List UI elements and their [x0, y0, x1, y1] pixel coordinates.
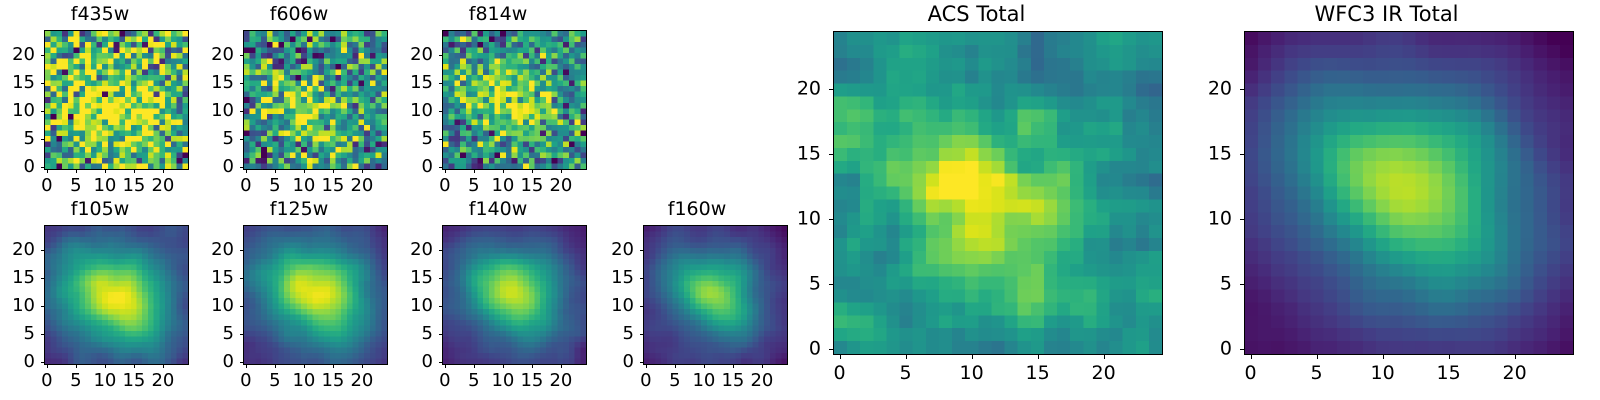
panel-title: f814w [398, 5, 598, 24]
panel-title: f105w [0, 200, 200, 219]
x-axis-tick-label: 5 [269, 177, 280, 195]
x-axis-tick-label: 0 [41, 177, 52, 195]
x-axis-tick [1449, 355, 1450, 359]
x-axis-tick-label: 15 [321, 372, 344, 390]
x-axis-tick [1104, 355, 1105, 359]
y-axis-tick-label: 15 [787, 145, 821, 164]
y-axis-tick-label: 5 [399, 325, 433, 343]
x-axis-tick [445, 170, 446, 173]
x-axis-tick-label: 20 [549, 177, 572, 195]
x-axis-tick [1038, 355, 1039, 359]
heatmap-f606w[interactable] [243, 30, 388, 170]
panel-wfc3-ir-total: WFC3 IR Total 0510152005101520 [1200, 0, 1600, 400]
y-axis-tick-label: 20 [200, 241, 234, 259]
x-axis-tick-label: 15 [520, 177, 543, 195]
x-axis-tick-label: 0 [240, 372, 251, 390]
panel-acs-total: ACS Total 0510152005101520 [790, 0, 1170, 400]
y-axis-tick-label: 0 [787, 339, 821, 358]
y-axis-tick [41, 139, 44, 140]
x-axis-tick-label: 5 [468, 372, 479, 390]
x-axis-tick [105, 170, 106, 173]
x-axis-tick [362, 365, 363, 368]
x-axis-tick [1251, 355, 1252, 359]
heatmap-f105w[interactable] [44, 225, 189, 365]
heatmap-f140w[interactable] [442, 225, 587, 365]
x-axis-tick [733, 365, 734, 368]
y-axis-tick-label: 10 [399, 297, 433, 315]
y-axis-tick [1240, 89, 1244, 90]
x-axis-tick-label: 0 [439, 372, 450, 390]
y-axis-tick [640, 278, 643, 279]
panel-title: WFC3 IR Total [1200, 4, 1573, 25]
x-axis-tick-label: 0 [41, 372, 52, 390]
y-axis-tick-label: 15 [600, 269, 634, 287]
x-axis-tick [304, 365, 305, 368]
x-axis-tick-label: 10 [292, 372, 315, 390]
y-axis-tick [240, 278, 243, 279]
x-axis-tick [972, 355, 973, 359]
panel-title: ACS Total [790, 4, 1163, 25]
y-axis-tick [439, 278, 442, 279]
y-axis-tick [240, 55, 243, 56]
y-axis-tick-label: 0 [1, 158, 35, 176]
y-axis-tick-label: 10 [399, 102, 433, 120]
heatmap-f814w[interactable] [442, 30, 587, 170]
y-axis-tick-label: 0 [200, 158, 234, 176]
y-axis-tick [1240, 219, 1244, 220]
panel-f105w: f105w 0510152005101520 [0, 195, 200, 400]
x-axis-tick [704, 365, 705, 368]
panel-f125w: f125w 0510152005101520 [199, 195, 399, 400]
y-axis-tick-label: 15 [1, 74, 35, 92]
y-axis-tick-label: 10 [200, 297, 234, 315]
y-axis-tick [829, 154, 833, 155]
y-axis-tick-label: 20 [1, 46, 35, 64]
figure-canvas: f435w 0510152005101520 f606w 05101520051… [0, 0, 1600, 400]
x-axis-tick-label: 10 [491, 372, 514, 390]
x-axis-tick [163, 365, 164, 368]
panel-title: f435w [0, 5, 200, 24]
x-axis-tick-label: 0 [640, 372, 651, 390]
x-axis-tick-label: 20 [549, 372, 572, 390]
y-axis-tick-label: 15 [1, 269, 35, 287]
y-axis-tick [41, 55, 44, 56]
panel-f814w: f814w 0510152005101520 [398, 0, 598, 195]
x-axis-tick [134, 170, 135, 173]
x-axis-tick-label: 5 [900, 364, 912, 383]
x-axis-tick [304, 170, 305, 173]
x-axis-tick-label: 10 [93, 372, 116, 390]
y-axis-tick-label: 0 [399, 158, 433, 176]
panel-title: f140w [398, 200, 598, 219]
x-axis-tick-label: 0 [834, 364, 846, 383]
y-axis-tick-label: 5 [1, 325, 35, 343]
panel-f435w: f435w 0510152005101520 [0, 0, 200, 195]
y-axis-tick-label: 10 [787, 209, 821, 228]
heatmap-wfc3-ir-total[interactable] [1244, 31, 1574, 355]
y-axis-tick-label: 15 [1198, 145, 1232, 164]
x-axis-tick [474, 365, 475, 368]
y-axis-tick-label: 20 [1198, 80, 1232, 99]
x-axis-tick [275, 365, 276, 368]
y-axis-tick-label: 10 [600, 297, 634, 315]
x-axis-tick [675, 365, 676, 368]
y-axis-tick [439, 111, 442, 112]
x-axis-tick-label: 10 [491, 177, 514, 195]
y-axis-tick-label: 10 [1198, 209, 1232, 228]
heatmap-f125w[interactable] [243, 225, 388, 365]
y-axis-tick [240, 83, 243, 84]
y-axis-tick-label: 5 [1198, 274, 1232, 293]
y-axis-tick-label: 10 [200, 102, 234, 120]
x-axis-tick-label: 15 [721, 372, 744, 390]
x-axis-tick [246, 170, 247, 173]
x-axis-tick [105, 365, 106, 368]
panel-f160w: f160w 0510152005101520 [597, 195, 797, 400]
x-axis-tick [906, 355, 907, 359]
y-axis-tick [1240, 154, 1244, 155]
y-axis-tick [640, 334, 643, 335]
y-axis-tick [439, 139, 442, 140]
x-axis-tick [1317, 355, 1318, 359]
heatmap-acs-total[interactable] [833, 31, 1163, 355]
x-axis-tick [47, 365, 48, 368]
y-axis-tick-label: 15 [200, 74, 234, 92]
y-axis-tick-label: 5 [787, 274, 821, 293]
x-axis-tick [333, 170, 334, 173]
x-axis-tick-label: 10 [960, 364, 984, 383]
y-axis-tick-label: 0 [1198, 339, 1232, 358]
y-axis-tick [829, 349, 833, 350]
x-axis-tick [275, 170, 276, 173]
x-axis-tick [561, 365, 562, 368]
y-axis-tick [439, 362, 442, 363]
x-axis-tick [646, 365, 647, 368]
panel-title: f606w [199, 5, 399, 24]
y-axis-tick [41, 334, 44, 335]
x-axis-tick [474, 170, 475, 173]
x-axis-tick [561, 170, 562, 173]
y-axis-tick [240, 250, 243, 251]
x-axis-tick-label: 15 [122, 177, 145, 195]
panel-f606w: f606w 0510152005101520 [199, 0, 399, 195]
x-axis-tick-label: 5 [1311, 364, 1323, 383]
x-axis-tick [1515, 355, 1516, 359]
y-axis-tick [439, 334, 442, 335]
y-axis-tick-label: 5 [399, 130, 433, 148]
y-axis-tick-label: 10 [1, 102, 35, 120]
y-axis-tick [41, 306, 44, 307]
x-axis-tick-label: 20 [151, 177, 174, 195]
x-axis-tick [503, 365, 504, 368]
x-axis-tick [47, 170, 48, 173]
y-axis-tick [439, 250, 442, 251]
x-axis-tick [76, 170, 77, 173]
y-axis-tick [439, 83, 442, 84]
y-axis-tick [640, 250, 643, 251]
y-axis-tick [41, 250, 44, 251]
y-axis-tick [41, 278, 44, 279]
panel-title: f160w [597, 200, 797, 219]
x-axis-tick [333, 365, 334, 368]
y-axis-tick [439, 55, 442, 56]
x-axis-tick-label: 20 [151, 372, 174, 390]
y-axis-tick-label: 20 [787, 80, 821, 99]
x-axis-tick [532, 365, 533, 368]
x-axis-tick-label: 5 [269, 372, 280, 390]
x-axis-tick-label: 20 [1092, 364, 1116, 383]
x-axis-tick-label: 10 [1371, 364, 1395, 383]
y-axis-tick [240, 334, 243, 335]
x-axis-tick-label: 10 [93, 177, 116, 195]
y-axis-tick [439, 167, 442, 168]
x-axis-tick [840, 355, 841, 359]
heatmap-f435w[interactable] [44, 30, 189, 170]
x-axis-tick-label: 20 [350, 177, 373, 195]
y-axis-tick-label: 20 [399, 241, 433, 259]
y-axis-tick [240, 306, 243, 307]
panel-f140w: f140w 0510152005101520 [398, 195, 598, 400]
x-axis-tick-label: 15 [520, 372, 543, 390]
x-axis-tick [532, 170, 533, 173]
x-axis-tick-label: 20 [750, 372, 773, 390]
y-axis-tick [41, 167, 44, 168]
x-axis-tick-label: 15 [1026, 364, 1050, 383]
x-axis-tick [163, 170, 164, 173]
y-axis-tick [1240, 349, 1244, 350]
x-axis-tick-label: 15 [1437, 364, 1461, 383]
y-axis-tick-label: 20 [600, 241, 634, 259]
y-axis-tick [240, 139, 243, 140]
y-axis-tick-label: 20 [1, 241, 35, 259]
y-axis-tick [640, 362, 643, 363]
y-axis-tick [829, 219, 833, 220]
x-axis-tick-label: 0 [1245, 364, 1257, 383]
x-axis-tick-label: 15 [122, 372, 145, 390]
x-axis-tick [362, 170, 363, 173]
heatmap-f160w[interactable] [643, 225, 788, 365]
x-axis-tick-label: 0 [439, 177, 450, 195]
x-axis-tick [503, 170, 504, 173]
y-axis-tick-label: 0 [1, 353, 35, 371]
x-axis-tick [445, 365, 446, 368]
y-axis-tick-label: 0 [399, 353, 433, 371]
y-axis-tick [1240, 284, 1244, 285]
y-axis-tick-label: 20 [200, 46, 234, 64]
x-axis-tick [134, 365, 135, 368]
panel-title: f125w [199, 200, 399, 219]
x-axis-tick-label: 5 [669, 372, 680, 390]
x-axis-tick [246, 365, 247, 368]
y-axis-tick [41, 362, 44, 363]
x-axis-tick-label: 10 [292, 177, 315, 195]
y-axis-tick-label: 0 [200, 353, 234, 371]
y-axis-tick-label: 5 [1, 130, 35, 148]
x-axis-tick-label: 15 [321, 177, 344, 195]
y-axis-tick [640, 306, 643, 307]
x-axis-tick-label: 5 [468, 177, 479, 195]
y-axis-tick [829, 89, 833, 90]
x-axis-tick-label: 20 [1503, 364, 1527, 383]
y-axis-tick-label: 5 [200, 130, 234, 148]
x-axis-tick-label: 0 [240, 177, 251, 195]
y-axis-tick [240, 167, 243, 168]
x-axis-tick-label: 10 [692, 372, 715, 390]
y-axis-tick-label: 5 [200, 325, 234, 343]
y-axis-tick [41, 83, 44, 84]
y-axis-tick-label: 5 [600, 325, 634, 343]
y-axis-tick-label: 0 [600, 353, 634, 371]
y-axis-tick-label: 15 [399, 74, 433, 92]
x-axis-tick [76, 365, 77, 368]
x-axis-tick-label: 20 [350, 372, 373, 390]
y-axis-tick-label: 20 [399, 46, 433, 64]
y-axis-tick [41, 111, 44, 112]
y-axis-tick [240, 111, 243, 112]
y-axis-tick-label: 10 [1, 297, 35, 315]
y-axis-tick-label: 15 [200, 269, 234, 287]
y-axis-tick [829, 284, 833, 285]
x-axis-tick-label: 5 [70, 372, 81, 390]
x-axis-tick-label: 5 [70, 177, 81, 195]
y-axis-tick-label: 15 [399, 269, 433, 287]
x-axis-tick [1383, 355, 1384, 359]
x-axis-tick [762, 365, 763, 368]
y-axis-tick [439, 306, 442, 307]
y-axis-tick [240, 362, 243, 363]
